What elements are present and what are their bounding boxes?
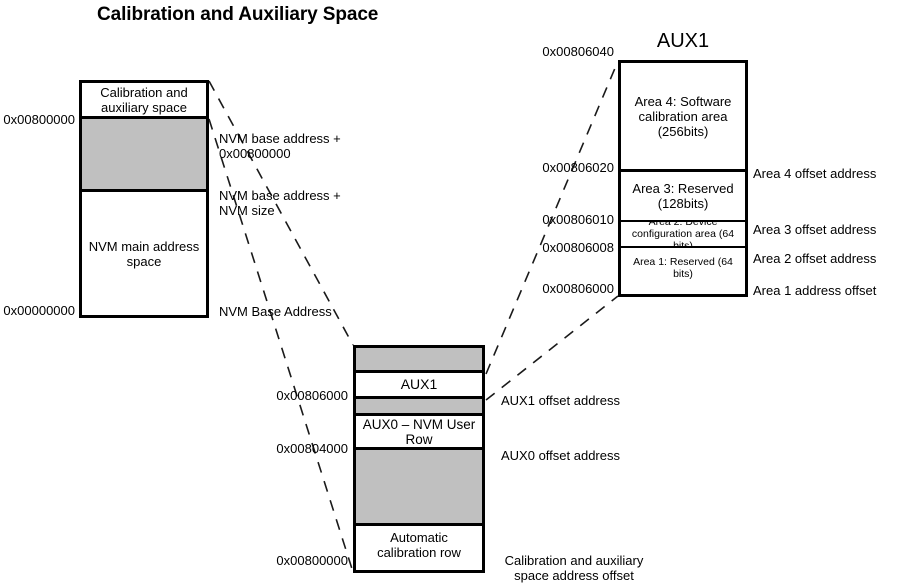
callout-nvm-base-address: NVM Base Address <box>219 304 332 319</box>
mid-row-aux1: AUX1 <box>356 373 482 399</box>
address-label-aux1-0x00806040: 0x00806040 <box>460 44 614 59</box>
aux1-row-area2-label: Area 2: Device configuration area (64 bi… <box>621 222 745 248</box>
aux1-row-area4: Area 4: Software calibration area (256bi… <box>621 63 745 172</box>
left-row-nvm-main: NVM main address space <box>82 192 206 315</box>
left-row-nvm-main-label: NVM main address space <box>85 239 203 269</box>
callout-area2-offset-address: Area 2 offset address <box>753 251 876 266</box>
aux1-detail-block: Area 4: Software calibration area (256bi… <box>618 60 748 297</box>
address-label-left-0x00800000: 0x00800000 <box>0 112 75 127</box>
callout-nvm-base-plus-offset: NVM base address + 0x00800000 <box>219 131 369 161</box>
address-label-left-0x00000000: 0x00000000 <box>0 303 75 318</box>
address-label-aux1-0x00806008: 0x00806008 <box>460 240 614 255</box>
aux1-row-area2: Area 2: Device configuration area (64 bi… <box>621 222 745 248</box>
left-row-calibration-label: Calibration and auxiliary space <box>82 85 206 115</box>
callout-area3-offset-address: Area 3 offset address <box>753 222 876 237</box>
aux1-row-area3-label: Area 3: Reserved (128bits) <box>624 181 742 211</box>
left-row-calibration: Calibration and auxiliary space <box>82 83 206 119</box>
address-label-mid-0x00806000: 0x00806000 <box>200 388 348 403</box>
address-label-mid-0x00800000: 0x00800000 <box>200 553 348 568</box>
mid-row-aux0-user-row-label: AUX0 – NVM User Row <box>356 417 482 447</box>
left-row-gray-gap <box>82 119 206 192</box>
aux1-row-area3: Area 3: Reserved (128bits) <box>621 172 745 222</box>
diagram-canvas: Calibration and Auxiliary Space Calibrat… <box>0 0 897 588</box>
address-label-aux1-0x00806000: 0x00806000 <box>460 281 614 296</box>
callout-area1-address-offset: Area 1 address offset <box>753 283 876 298</box>
nvm-address-space-block: Calibration and auxiliary space NVM main… <box>79 80 209 318</box>
aux1-row-area1: Area 1: Reserved (64 bits) <box>621 248 745 288</box>
address-label-mid-0x00804000: 0x00804000 <box>200 441 348 456</box>
calibration-auxiliary-space-block: AUX1 AUX0 – NVM User Row Automatic calib… <box>353 345 485 573</box>
mid-row-gray-top <box>356 348 482 373</box>
callout-aux0-offset-address: AUX0 offset address <box>501 448 620 463</box>
mid-row-automatic-calibration-row-label: Automatic calibration row <box>356 530 482 560</box>
callout-nvm-base-plus-size: NVM base address + NVM size <box>219 188 369 218</box>
mid-row-automatic-calibration-row: Automatic calibration row <box>356 526 482 564</box>
mid-row-gray-bottom <box>356 450 482 526</box>
mid-row-gray-mid <box>356 399 482 416</box>
mid-row-aux0-user-row: AUX0 – NVM User Row <box>356 416 482 450</box>
mid-row-aux1-label: AUX1 <box>398 377 441 392</box>
aux1-heading: AUX1 <box>618 30 748 53</box>
callout-calibration-auxiliary-space-address-offset: Calibration and auxiliary space address … <box>501 553 647 583</box>
callout-area4-offset-address: Area 4 offset address <box>753 166 876 181</box>
address-label-aux1-0x00806020: 0x00806020 <box>460 160 614 175</box>
aux1-row-area1-label: Area 1: Reserved (64 bits) <box>621 256 745 280</box>
page-title: Calibration and Auxiliary Space <box>97 4 427 26</box>
callout-aux1-offset-address: AUX1 offset address <box>501 393 620 408</box>
address-label-aux1-0x00806010: 0x00806010 <box>460 212 614 227</box>
aux1-row-area4-label: Area 4: Software calibration area (256bi… <box>621 94 745 139</box>
